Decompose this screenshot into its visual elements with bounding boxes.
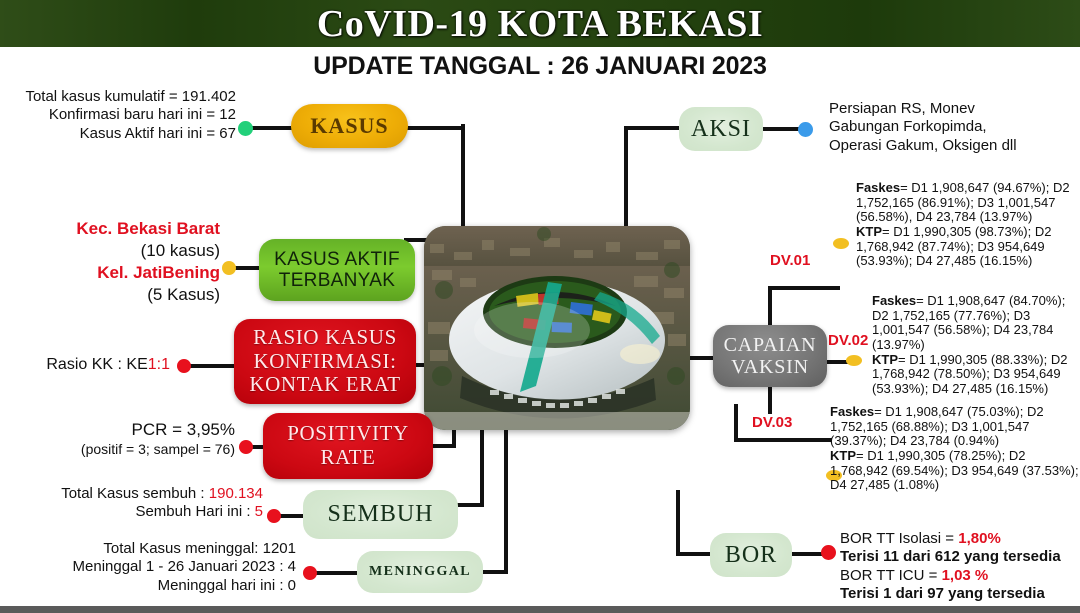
kasus-total-kumulatif: Total kasus kumulatif = 191.402: [0, 88, 236, 106]
sembuh-stats: Total Kasus sembuh : 190.134 Sembuh Hari…: [20, 485, 263, 522]
aksi-connector-line-right: [761, 127, 801, 131]
node-aksi[interactable]: AKSI: [679, 107, 763, 151]
dv02-faskes-head: Faskes: [872, 293, 916, 308]
aksi-stats: Persiapan RS, Monev Gabungan Forkopimda,…: [829, 100, 1079, 155]
sembuh-connector-dot: [267, 509, 281, 523]
sembuh-connector-riser: [480, 427, 484, 505]
dv01-faskes-head: Faskes: [856, 180, 900, 195]
dv02-label: DV.02: [828, 332, 868, 349]
kasus-stats: Total kasus kumulatif = 191.402 Konfirma…: [0, 88, 236, 143]
capaian-connector-bottom: [768, 384, 772, 414]
meninggal-connector-riser: [504, 428, 508, 572]
dv03-label: DV.03: [752, 414, 792, 431]
aksi-line-3: Operasi Gakum, Oksigen dll: [829, 137, 1079, 155]
bor-stats: BOR TT Isolasi = 1,80% Terisi 11 dari 61…: [840, 530, 1080, 603]
update-date-subtitle: UPDATE TANGGAL : 26 JANUARI 2023: [0, 52, 1080, 81]
dv03-ktp-head: KTP: [830, 448, 856, 463]
meninggal-hari-ini: Meninggal hari ini : 0: [20, 577, 296, 595]
aksi-line-2: Gabungan Forkopimda,: [829, 118, 1079, 136]
meninggal-connector-line: [315, 571, 357, 575]
bor-isolasi-label: BOR TT Isolasi =: [840, 530, 958, 547]
dv01-elbow-horizontal: [768, 286, 840, 290]
dv02-ktp: KTP= D1 1,990,305 (88.33%); D2 1,768,942…: [872, 353, 1080, 397]
bor-isolasi-line: BOR TT Isolasi = 1,80%: [840, 530, 1080, 548]
kelurahan-terbanyak: Kel. JatiBening: [20, 262, 220, 284]
bor-connector-riser: [676, 490, 680, 556]
node-rasio-kasus[interactable]: RASIO KASUS KONFIRMASI: KONTAK ERAT: [234, 319, 416, 404]
node-aksi-label: AKSI: [691, 116, 751, 143]
meninggal-bulan-ini: Meninggal 1 - 26 Januari 2023 : 4: [20, 558, 296, 576]
sembuh-hari-ini-label: Sembuh Hari ini :: [135, 503, 254, 520]
positivity-stats: PCR = 3,95% (positif = 3; sampel = 76): [20, 420, 235, 458]
dv02-ktp-head: KTP: [872, 352, 898, 367]
kecamatan-terbanyak: Kec. Bekasi Barat: [20, 218, 220, 240]
dv01-label: DV.01: [770, 252, 810, 269]
sembuh-hari-ini-value: 5: [255, 503, 263, 520]
rasio-value: 1:1: [148, 356, 170, 373]
aksi-connector-line-left: [624, 126, 682, 130]
kasus-aktif-terbanyak-stats: Kec. Bekasi Barat (10 kasus) Kel. JatiBe…: [20, 218, 220, 306]
kasus-connector-line-left: [250, 126, 294, 130]
dv03-ktp-body: = D1 1,990,305 (78.25%); D2 1,768,942 (6…: [830, 448, 1079, 492]
kelurahan-terbanyak-count: (5 Kasus): [20, 284, 220, 306]
footer-band: [0, 606, 1080, 613]
dv01-ktp: KTP= D1 1,990,305 (98.73%); D2 1,768,942…: [856, 225, 1078, 269]
dv03-ktp: KTP= D1 1,990,305 (78.25%); D2 1,768,942…: [830, 449, 1080, 493]
node-positivity-line-1: POSITIVITY: [287, 422, 409, 446]
dv01-connector-dot: [833, 238, 849, 249]
node-capaian-vaksin[interactable]: CAPAIAN VAKSIN: [713, 325, 827, 387]
dv01-stats: Faskes= D1 1,908,647 (94.67%); D2 1,752,…: [856, 181, 1078, 269]
pcr-sample-detail: (positif = 3; sampel = 76): [20, 441, 235, 458]
bor-icu-detail: Terisi 1 dari 97 yang tersedia: [840, 585, 1080, 603]
pcr-label: PCR =: [132, 420, 187, 439]
node-sembuh-label: SEMBUH: [327, 501, 433, 528]
aksi-line-1: Persiapan RS, Monev: [829, 100, 1079, 118]
rasio-stats: Rasio KK : KE1:1: [10, 355, 170, 375]
dv03-elbow-horizontal: [734, 438, 832, 442]
dv02-connector-dot: [846, 355, 862, 366]
rasio-connector-line: [189, 364, 237, 368]
node-rasio-line-2: KONFIRMASI:: [253, 350, 396, 374]
dv01-faskes: Faskes= D1 1,908,647 (94.67%); D2 1,752,…: [856, 181, 1078, 225]
node-positivity-line-2: RATE: [321, 446, 376, 470]
dv02-ktp-body: = D1 1,990,305 (88.33%); D2 1,768,942 (7…: [872, 352, 1067, 396]
aksi-connector-riser: [624, 126, 628, 238]
sembuh-total-label: Total Kasus sembuh :: [61, 485, 209, 502]
node-meninggal[interactable]: MENINGGAL: [357, 551, 483, 593]
kasus-connector-line-right: [406, 126, 464, 130]
dv01-ktp-body: = D1 1,990,305 (98.73%); D2 1,768,942 (8…: [856, 224, 1051, 268]
meninggal-total: Total Kasus meninggal: 1201: [20, 540, 296, 558]
node-kasus-label: KASUS: [310, 114, 388, 139]
kasus-aktif-connector-dot: [222, 261, 236, 275]
stadium-photo: [424, 226, 690, 430]
aksi-connector-dot: [798, 122, 813, 137]
dv03-faskes-head: Faskes: [830, 404, 874, 419]
dv03-faskes: Faskes= D1 1,908,647 (75.03%); D2 1,752,…: [830, 405, 1080, 449]
node-meninggal-label: MENINGGAL: [369, 564, 471, 580]
page-title: CoVID-19 KOTA BEKASI: [0, 1, 1080, 47]
rasio-label: Rasio KK : KE: [46, 356, 147, 373]
meninggal-stats: Total Kasus meninggal: 1201 Meninggal 1 …: [20, 540, 296, 595]
infographic-canvas: CoVID-19 KOTA BEKASI UPDATE TANGGAL : 26…: [0, 0, 1080, 613]
rasio-connector-dot: [177, 359, 191, 373]
node-kasus-aktif-terbanyak[interactable]: KASUS AKTIF TERBANYAK: [259, 239, 415, 301]
bor-icu-label: BOR TT ICU =: [840, 567, 942, 584]
dv02-faskes: Faskes= D1 1,908,647 (84.70%); D2 1,752,…: [872, 294, 1080, 353]
node-kasus-aktif-line-2: TERBANYAK: [279, 270, 395, 291]
node-bor-label: BOR: [725, 542, 777, 569]
meninggal-connector-dot: [303, 566, 317, 580]
node-capaian-line-2: VAKSIN: [731, 356, 809, 378]
sembuh-total-value: 190.134: [209, 485, 263, 502]
kasus-aktif-connector-line: [234, 266, 262, 270]
kasus-connector-drop: [461, 124, 465, 234]
bor-connector-dot: [821, 545, 836, 560]
dv01-ktp-head: KTP: [856, 224, 882, 239]
bor-isolasi-value: 1,80%: [958, 530, 1001, 547]
bor-isolasi-detail: Terisi 11 dari 612 yang tersedia: [840, 548, 1080, 566]
node-sembuh[interactable]: SEMBUH: [303, 490, 458, 539]
node-bor[interactable]: BOR: [710, 533, 792, 577]
kasus-connector-dot: [238, 121, 253, 136]
kecamatan-terbanyak-count: (10 kasus): [20, 240, 220, 262]
dv03-elbow-vertical: [734, 404, 738, 440]
kasus-konfirmasi-baru: Konfirmasi baru hari ini = 12: [0, 106, 236, 124]
node-kasus-aktif-line-1: KASUS AKTIF: [274, 249, 400, 270]
dv02-stats: Faskes= D1 1,908,647 (84.70%); D2 1,752,…: [872, 294, 1080, 397]
node-rasio-line-3: KONTAK ERAT: [249, 373, 400, 397]
positivity-connector-dot: [239, 440, 253, 454]
node-kasus[interactable]: KASUS: [291, 104, 408, 148]
bor-icu-value: 1,03 %: [942, 567, 989, 584]
dv03-stats: Faskes= D1 1,908,647 (75.03%); D2 1,752,…: [830, 405, 1080, 493]
node-positivity-rate[interactable]: POSITIVITY RATE: [263, 413, 433, 479]
kasus-aktif-hari-ini: Kasus Aktif hari ini = 67: [0, 125, 236, 143]
node-capaian-line-1: CAPAIAN: [724, 334, 817, 356]
node-rasio-line-1: RASIO KASUS: [253, 326, 397, 350]
bor-icu-line: BOR TT ICU = 1,03 %: [840, 567, 1080, 585]
pcr-value: 3,95%: [187, 420, 235, 439]
